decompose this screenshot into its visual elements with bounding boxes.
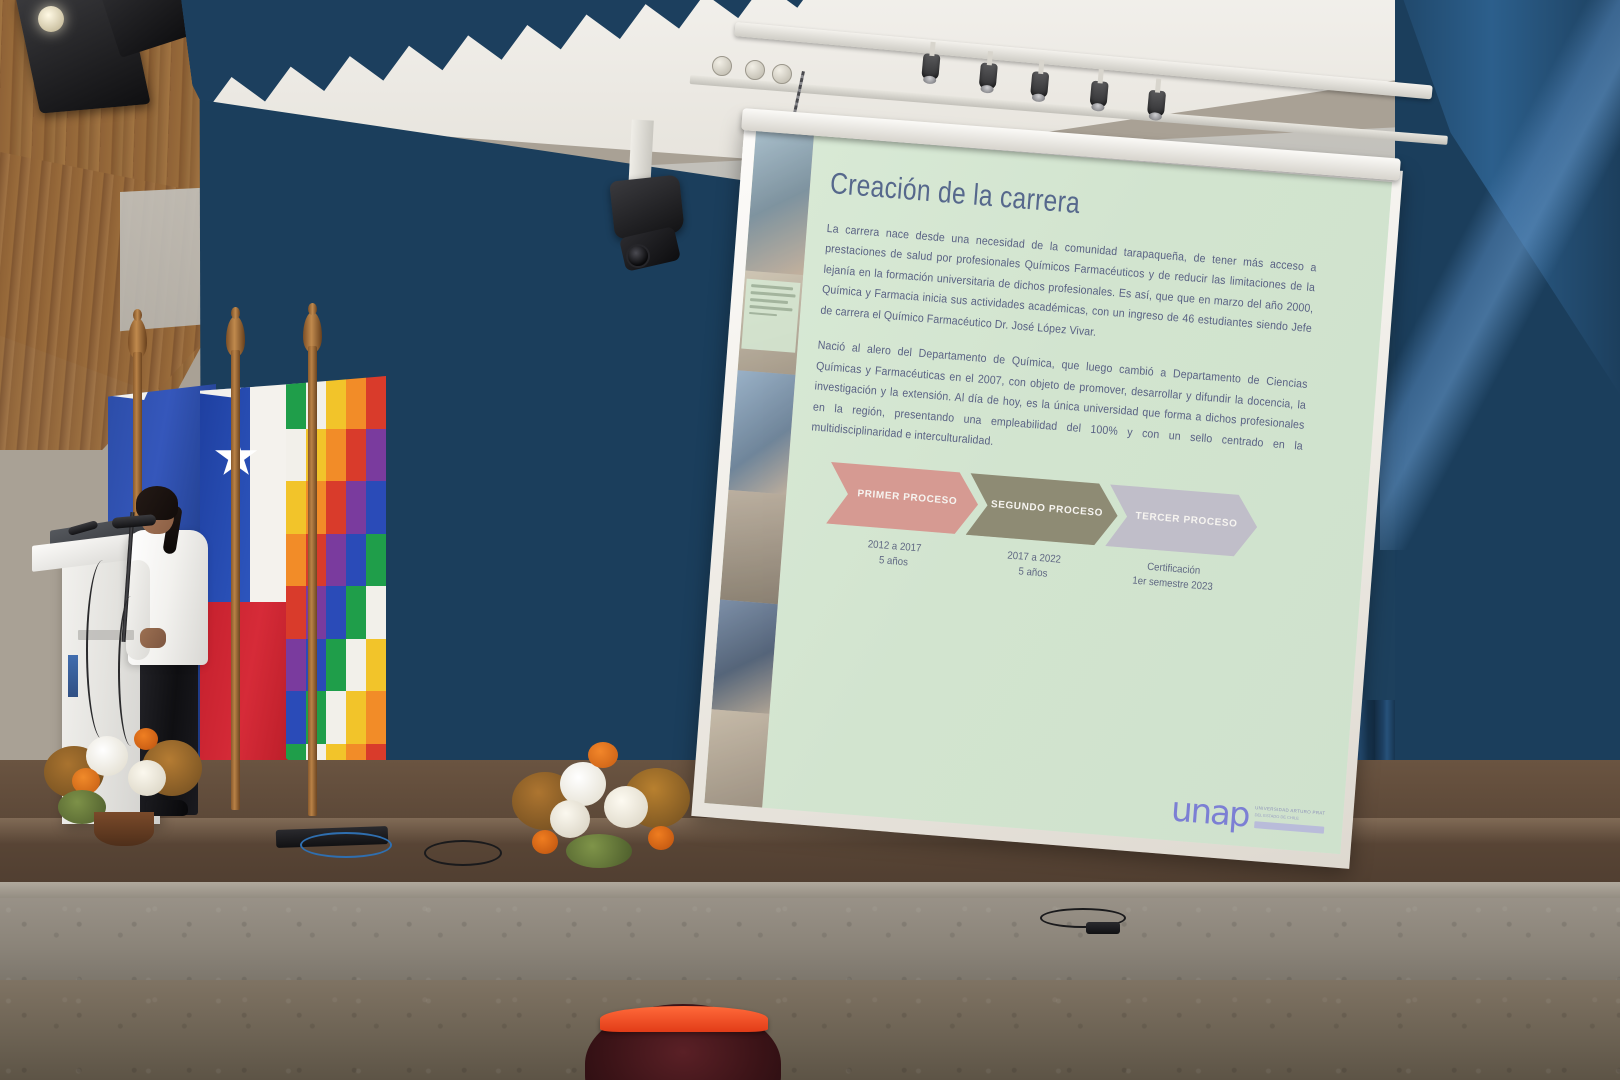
- stage-cable: [300, 832, 392, 858]
- collage-photo: [745, 131, 814, 275]
- spotlight-icon: [1147, 90, 1166, 117]
- collage-photo: [720, 490, 786, 604]
- collage-quote-card: [741, 279, 800, 353]
- lectern-blue-accent: [68, 655, 78, 697]
- unap-logo-bar: [1254, 821, 1325, 834]
- flower-arrangement-left: [42, 718, 202, 838]
- pulley-icon: [772, 64, 792, 84]
- wiphala-cell: [346, 691, 366, 744]
- process-caption-2: 2017 a 2022 5 años: [968, 545, 1099, 587]
- wiphala-cell: [286, 534, 306, 587]
- wiphala-cell: [326, 534, 346, 587]
- camera-lens-icon: [626, 244, 650, 268]
- wiphala-cell: [286, 429, 306, 482]
- spotlight-icon: [1030, 71, 1049, 98]
- wiphala-cell: [366, 691, 386, 744]
- process-step-3: TERCER PROCESO: [1105, 484, 1259, 558]
- stage-step-edge: [0, 882, 1620, 898]
- ceiling-lamp-icon: [38, 6, 64, 32]
- wiphala-cell: [326, 586, 346, 639]
- process-step-3-label: TERCER PROCESO: [1135, 511, 1238, 532]
- wiphala-cell: [366, 534, 386, 587]
- presenter-hands: [140, 628, 166, 648]
- auditorium-scene: Creación de la carrera La carrera nace d…: [0, 0, 1620, 1080]
- process-caption-3: Certificación 1er semestre 2023: [1108, 556, 1239, 598]
- stage-equipment-box: [1086, 922, 1120, 934]
- wiphala-cell: [346, 376, 366, 429]
- slide-paragraph-2: Nació al alero del Departamento de Quími…: [811, 336, 1309, 477]
- wiphala-cell: [286, 586, 306, 639]
- wiphala-cell: [366, 376, 386, 429]
- wiphala-cell: [366, 586, 386, 639]
- spotlight-icon: [1089, 81, 1108, 108]
- step-texture: [0, 889, 1620, 985]
- wiphala-cell: [366, 429, 386, 482]
- flower-orange: [588, 742, 618, 768]
- wiphala-cell: [326, 376, 346, 429]
- wiphala-cell: [286, 691, 306, 744]
- collage-photo: [728, 370, 795, 494]
- microphone-cable: [86, 560, 120, 740]
- flower-orange: [648, 826, 674, 850]
- flagpole-chile: [231, 350, 240, 810]
- wiphala-cell: [326, 481, 346, 534]
- slide-body: Creación de la carrera La carrera nace d…: [762, 136, 1392, 855]
- unap-wordmark: unap: [1170, 792, 1250, 832]
- wiphala-cell: [326, 691, 346, 744]
- collage-photo: [704, 709, 769, 807]
- flower-foliage: [566, 834, 632, 868]
- process-step-2: SEGUNDO PROCESO: [966, 473, 1120, 547]
- projection-screen[interactable]: Creación de la carrera La carrera nace d…: [691, 118, 1403, 869]
- wiphala-cell: [326, 639, 346, 692]
- flower-white-rose: [604, 786, 648, 828]
- wiphala-flag: [286, 376, 386, 796]
- process-step-1-label: PRIMER PROCESO: [857, 489, 958, 509]
- process-caption-1: 2012 a 2017 5 años: [829, 534, 960, 576]
- process-step-1: PRIMER PROCESO: [826, 462, 980, 536]
- unap-logo: unap UNIVERSIDAD ARTURO PRAT DEL ESTADO …: [1170, 792, 1326, 838]
- wiphala-cell: [366, 639, 386, 692]
- wiphala-cell: [346, 639, 366, 692]
- flower-orange: [532, 830, 558, 854]
- flower-vase: [94, 812, 154, 846]
- wiphala-cell: [346, 481, 366, 534]
- slide-paragraph-1: La carrera nace desde una necesidad de l…: [820, 219, 1318, 360]
- stage-cable: [424, 840, 502, 866]
- flower-arrangement-center: [512, 738, 692, 868]
- spotlight-icon: [979, 62, 998, 89]
- pulley-icon: [712, 56, 732, 76]
- wiphala-cell: [366, 481, 386, 534]
- pulley-icon: [745, 60, 765, 80]
- wiphala-cell: [346, 586, 366, 639]
- floor-foreground: [0, 980, 1620, 1080]
- audience-headband: [600, 1006, 768, 1032]
- unap-logo-text: UNIVERSIDAD ARTURO PRAT DEL ESTADO DE CH…: [1254, 805, 1326, 834]
- screen-surface: Creación de la carrera La carrera nace d…: [704, 131, 1392, 854]
- flower-orange: [134, 728, 158, 750]
- flagpole-wiphala: [308, 346, 317, 816]
- stage-step: [0, 889, 1620, 985]
- wiphala-cell: [346, 429, 366, 482]
- presentation-slide: Creación de la carrera La carrera nace d…: [704, 131, 1392, 854]
- flower-white-rose: [550, 800, 590, 838]
- wiphala-cell: [326, 429, 346, 482]
- wiphala-cell: [286, 481, 306, 534]
- flower-white-rose: [128, 760, 166, 796]
- spotlight-icon: [921, 53, 940, 80]
- wiphala-cell: [346, 534, 366, 587]
- floor-texture: [0, 980, 1620, 1080]
- collage-photo: [712, 600, 778, 714]
- process-step-2-label: SEGUNDO PROCESO: [990, 499, 1103, 520]
- wiphala-cell: [286, 639, 306, 692]
